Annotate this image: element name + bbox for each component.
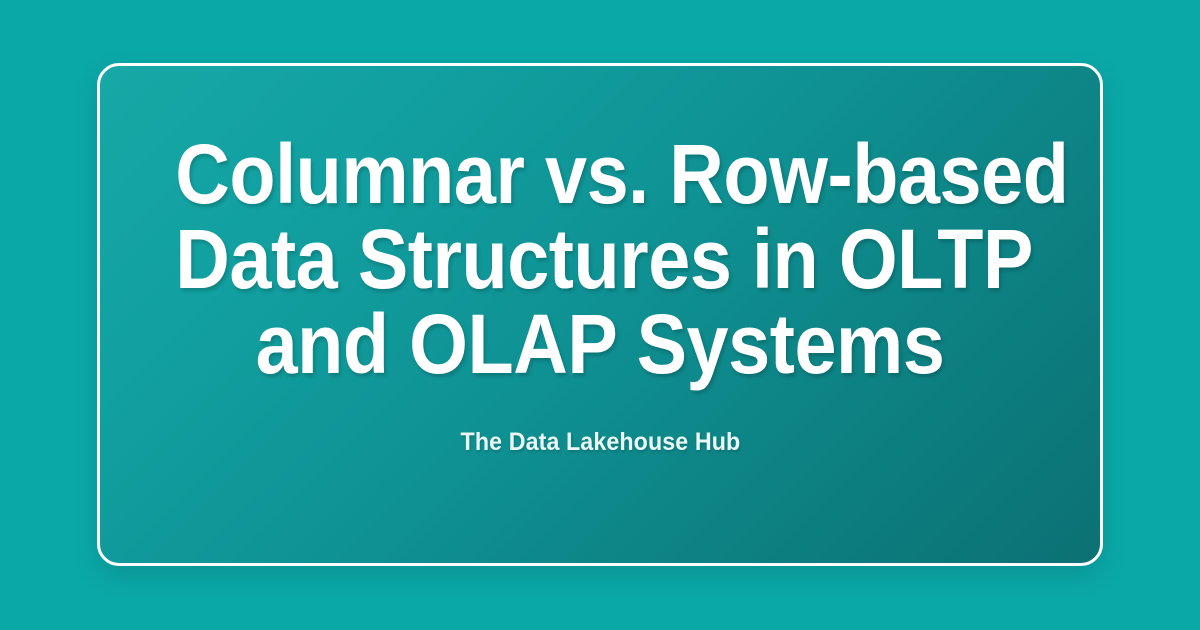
title-line-2: Data Structures in OLTP [175,217,1025,302]
social-card-canvas: Columnar vs. Row-based Data Structures i… [0,0,1200,630]
title-line-1: Columnar vs. Row-based [175,132,1025,217]
title-line-3: and OLAP Systems [175,302,1025,387]
site-name-subtitle: The Data Lakehouse Hub [460,427,740,457]
title-card: Columnar vs. Row-based Data Structures i… [97,63,1103,566]
page-title: Columnar vs. Row-based Data Structures i… [100,132,1100,387]
